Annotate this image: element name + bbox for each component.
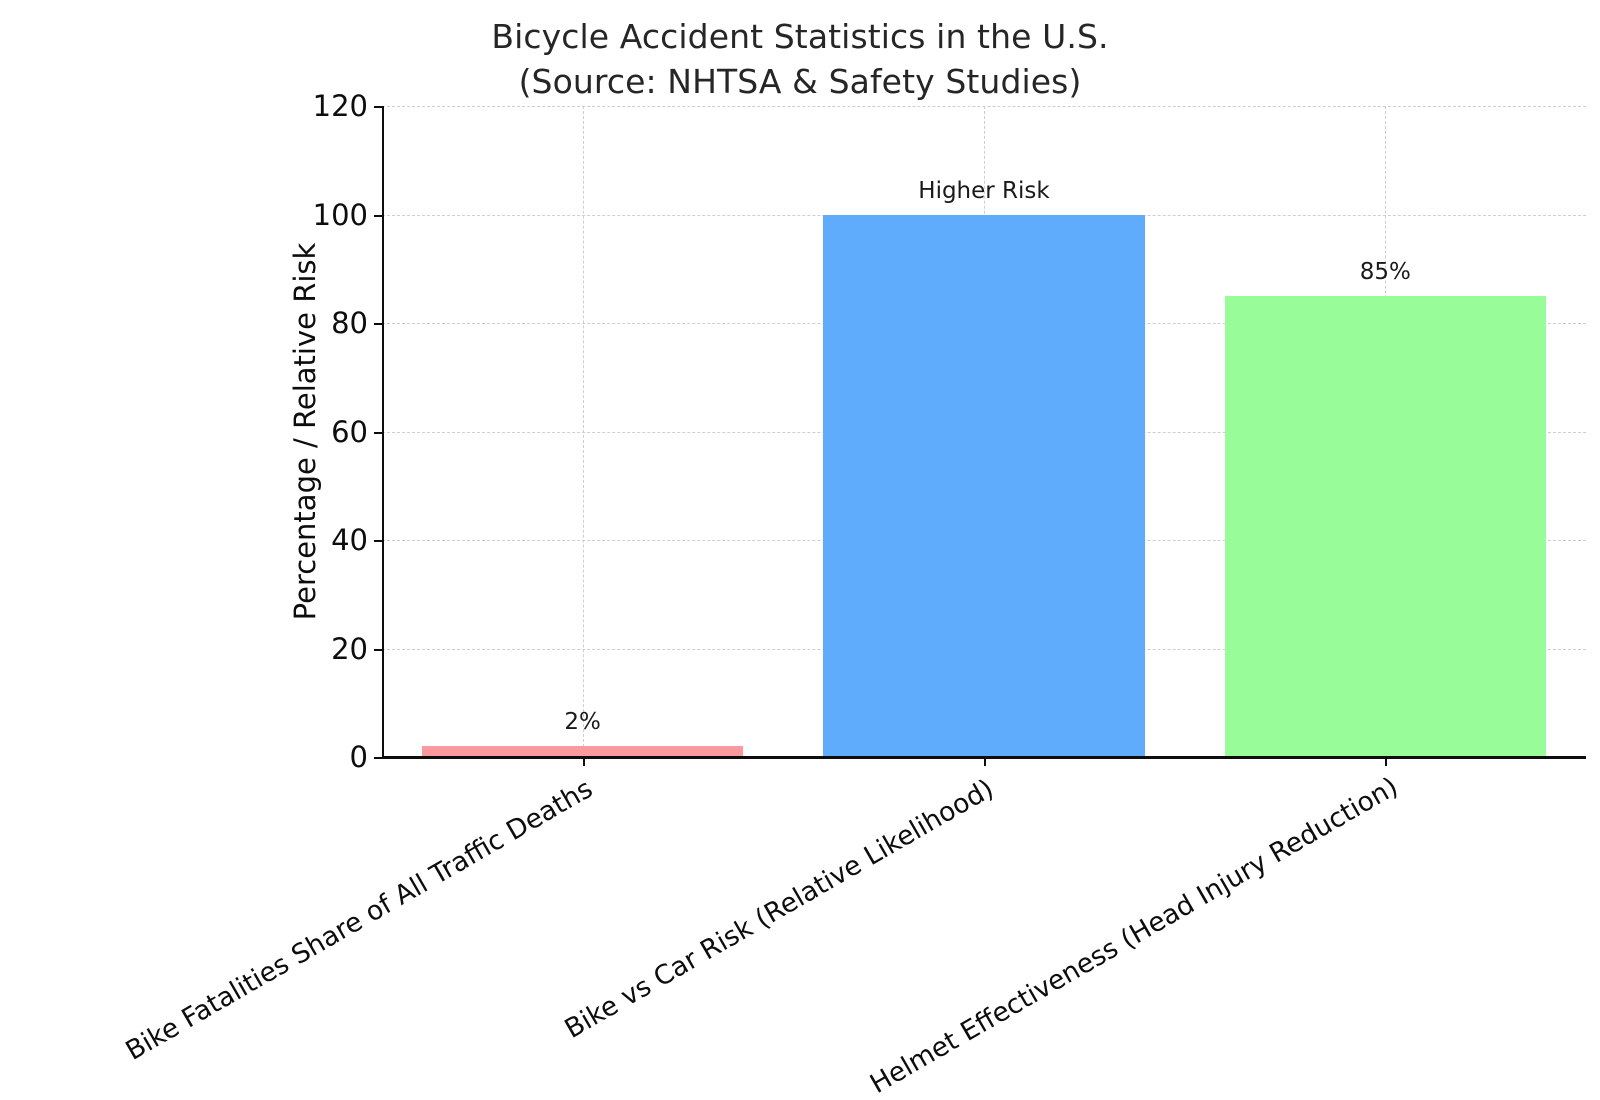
y-tick-label: 120 (313, 92, 368, 121)
bar[interactable] (823, 215, 1144, 758)
y-tick-label: 0 (350, 743, 368, 772)
y-tick-mark (374, 215, 382, 217)
y-tick-mark (374, 106, 382, 108)
y-tick-label: 40 (331, 526, 368, 555)
x-tick-mark (984, 757, 986, 766)
bar[interactable] (1225, 296, 1546, 757)
y-tick-label: 60 (331, 418, 368, 447)
y-tick-mark (374, 540, 382, 542)
y-tick-label: 80 (331, 309, 368, 338)
gridline-vertical (583, 106, 584, 757)
x-tick-mark (1385, 757, 1387, 766)
chart-figure: Bicycle Accident Statistics in the U.S. … (0, 0, 1600, 1055)
bar-value-label: Higher Risk (918, 180, 1049, 203)
y-tick-mark (374, 432, 382, 434)
y-tick-label: 20 (331, 635, 368, 664)
y-tick-label: 100 (313, 201, 368, 230)
y-tick-mark (374, 757, 382, 759)
x-tick-mark (583, 757, 585, 766)
bar-value-label: 2% (564, 711, 601, 734)
chart-title: Bicycle Accident Statistics in the U.S. … (0, 14, 1600, 104)
y-axis-spine (382, 106, 384, 758)
y-tick-mark (374, 323, 382, 325)
y-tick-mark (374, 649, 382, 651)
plot-area (382, 106, 1586, 757)
bar-value-label: 85% (1360, 261, 1411, 284)
